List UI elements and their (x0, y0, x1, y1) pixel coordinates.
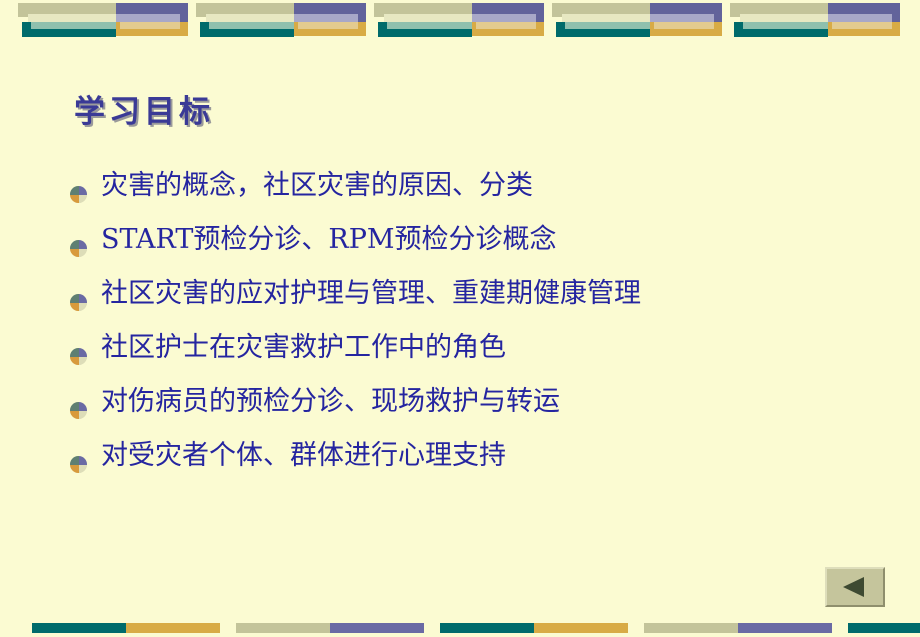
strip-segment (330, 623, 424, 633)
bullet-quadrant (79, 348, 88, 357)
bullet-quadrant (70, 348, 79, 357)
bullet-quadrant (70, 294, 79, 303)
band-layer (200, 29, 294, 37)
bullet-quadrant (79, 402, 88, 411)
bullet-quadrant (70, 357, 79, 366)
band-layer (378, 29, 472, 37)
band-unit (552, 3, 722, 36)
band-layer (654, 22, 714, 29)
bullet-quadrant (70, 402, 79, 411)
strip-segment (848, 623, 920, 633)
quadrant-sphere-bullet-icon (70, 186, 87, 203)
bullet-quadrant (70, 240, 79, 249)
bullet-quadrant (79, 240, 88, 249)
bottom-decorative-strip (0, 615, 920, 637)
quadrant-sphere-bullet-icon (70, 402, 87, 419)
bullet-quadrant (70, 411, 79, 420)
list-item-label: 对伤病员的预检分诊、现场救护与转运 (101, 388, 560, 416)
band-unit (730, 3, 900, 36)
bullet-quadrant (70, 195, 79, 204)
bullet-quadrant (79, 195, 88, 204)
band-unit (18, 3, 188, 36)
band-layer (734, 22, 743, 37)
list-item: START预检分诊、RPM预检分诊概念 (70, 226, 890, 280)
bullet-quadrant (70, 465, 79, 474)
band-unit (374, 3, 544, 36)
bullet-quadrant (79, 303, 88, 312)
bullet-quadrant (79, 456, 88, 465)
nav-back-button[interactable] (825, 567, 885, 607)
quadrant-sphere-bullet-icon (70, 240, 87, 257)
quadrant-sphere-bullet-icon (70, 294, 87, 311)
strip-segment (644, 623, 738, 633)
list-item: 灾害的概念，社区灾害的原因、分类 (70, 172, 890, 226)
band-layer (832, 22, 892, 29)
band-layer (378, 22, 387, 37)
bullet-quadrant (79, 465, 88, 474)
top-decorative-band (0, 0, 920, 46)
band-layer (476, 22, 536, 29)
triangle-left-icon (843, 577, 864, 597)
quadrant-sphere-bullet-icon (70, 348, 87, 365)
bullet-quadrant (70, 249, 79, 258)
list-item: 社区灾害的应对护理与管理、重建期健康管理 (70, 280, 890, 334)
band-layer (734, 29, 828, 37)
strip-segment (126, 623, 220, 633)
band-layer (120, 22, 180, 29)
strip-segment (440, 623, 534, 633)
band-layer (22, 22, 31, 37)
list-item-label: 灾害的概念，社区灾害的原因、分类 (101, 172, 533, 200)
bullet-quadrant (79, 357, 88, 366)
strip-segment (738, 623, 832, 633)
list-item-label: START预检分诊、RPM预检分诊概念 (101, 226, 557, 254)
band-layer (22, 29, 116, 37)
bullet-quadrant (70, 303, 79, 312)
bullet-quadrant (70, 186, 79, 195)
band-layer (200, 22, 209, 37)
bullet-quadrant (79, 294, 88, 303)
bullet-quadrant (79, 411, 88, 420)
list-item: 社区护士在灾害救护工作中的角色 (70, 334, 890, 388)
band-unit (196, 3, 366, 36)
strip-segment (32, 623, 126, 633)
strip-segment (236, 623, 330, 633)
list-item-label: 社区灾害的应对护理与管理、重建期健康管理 (101, 280, 641, 308)
list-item: 对受灾者个体、群体进行心理支持 (70, 442, 890, 496)
bullet-quadrant (79, 186, 88, 195)
list-item-label: 社区护士在灾害救护工作中的角色 (101, 334, 506, 362)
band-layer (556, 29, 650, 37)
presentation-slide: 学习目标 灾害的概念，社区灾害的原因、分类START预检分诊、RPM预检分诊概念… (0, 0, 920, 637)
band-layer (556, 22, 565, 37)
list-item: 对伤病员的预检分诊、现场救护与转运 (70, 388, 890, 442)
bullet-quadrant (70, 456, 79, 465)
band-layer (298, 22, 358, 29)
page-title: 学习目标 (74, 86, 214, 131)
list-item-label: 对受灾者个体、群体进行心理支持 (101, 442, 506, 470)
bullet-quadrant (79, 249, 88, 258)
strip-segment (534, 623, 628, 633)
quadrant-sphere-bullet-icon (70, 456, 87, 473)
objectives-list: 灾害的概念，社区灾害的原因、分类START预检分诊、RPM预检分诊概念社区灾害的… (70, 172, 890, 496)
